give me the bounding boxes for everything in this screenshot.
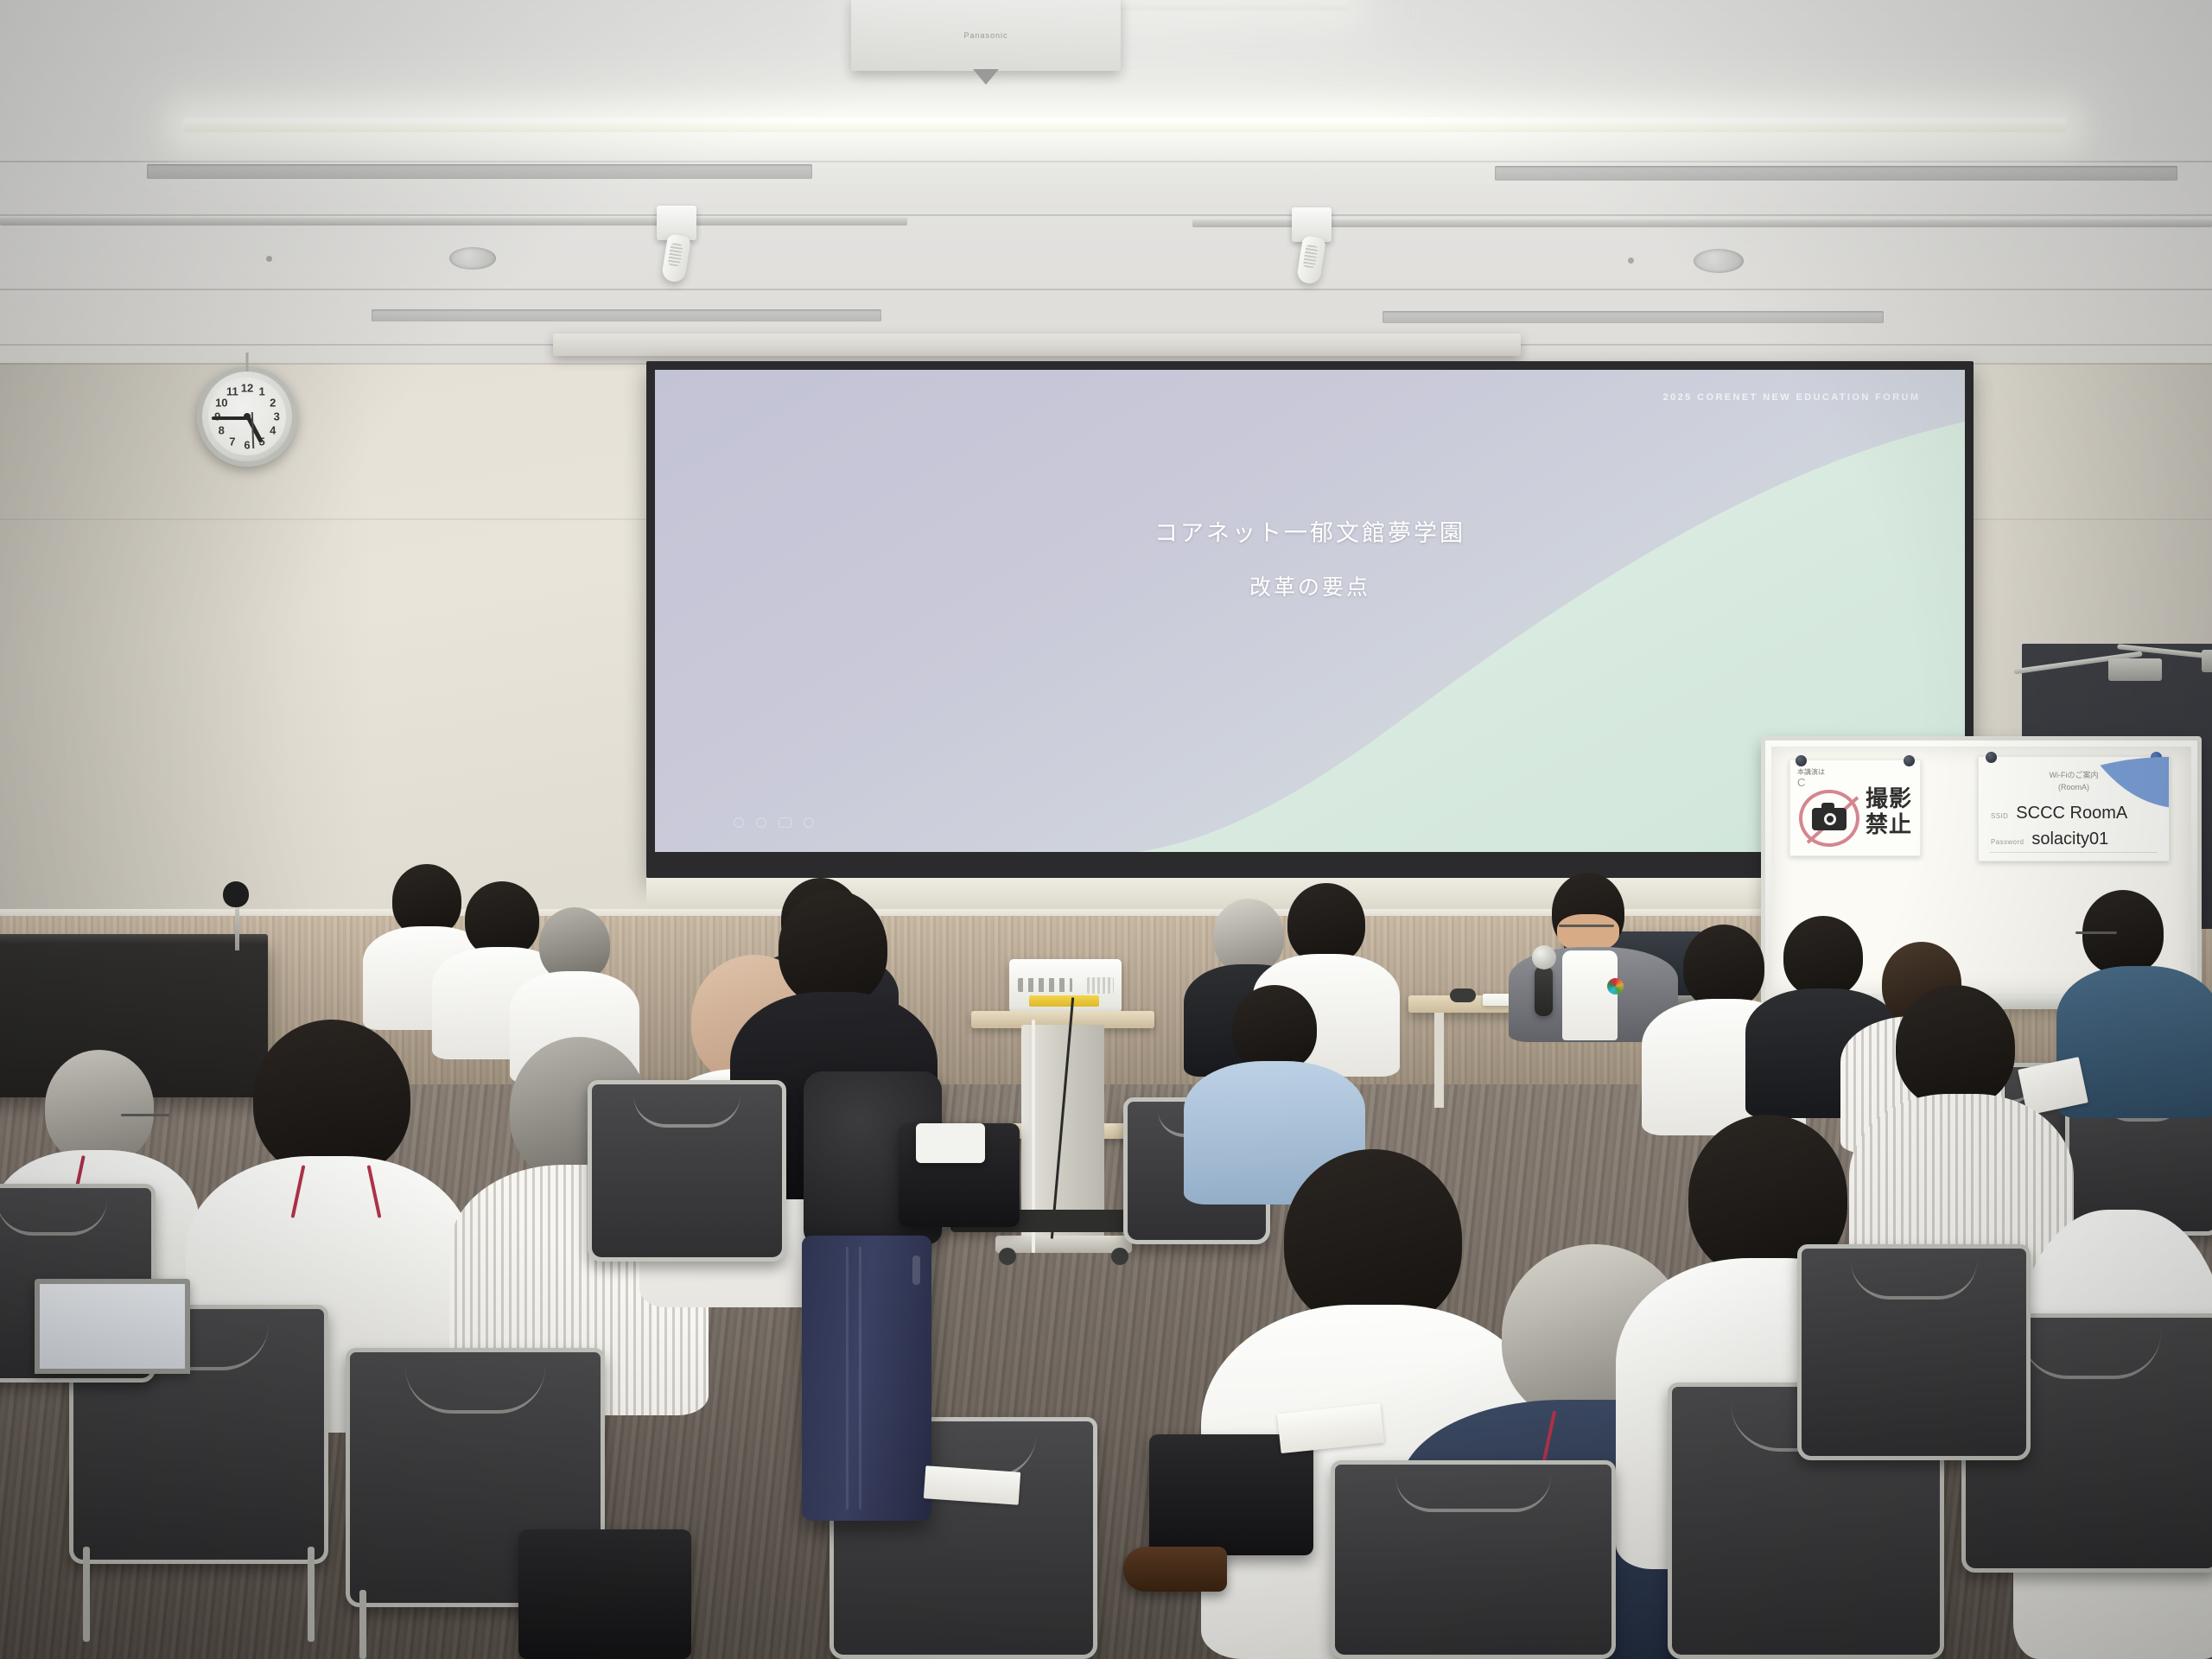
- clock-number: 6: [244, 439, 250, 452]
- attendee-glasses: [121, 1114, 169, 1116]
- slide-title-line1: コアネット一郁文館夢学園: [655, 514, 1965, 548]
- lighting-track-rail: [1192, 219, 2212, 227]
- av-cart-caster: [1111, 1248, 1128, 1265]
- wifi-notice: Wi-Fiのご案内 (RoomA) SSID SCCC RoomA Passwo…: [1978, 756, 2170, 861]
- chair[interactable]: [1331, 1460, 1616, 1659]
- ceiling-air-vent: [147, 164, 812, 179]
- wifi-heading: Wi-Fiのご案内 (RoomA): [1979, 770, 2169, 793]
- ceiling-air-vent: [1495, 166, 2177, 181]
- floor-sign: [924, 1465, 1020, 1505]
- door-closer-box: [2108, 658, 2162, 681]
- suitcase-groove: [859, 1247, 861, 1510]
- ceiling-projector-brand: Panasonic: [851, 31, 1121, 40]
- clock-number: 8: [219, 424, 225, 437]
- chair[interactable]: [588, 1080, 786, 1262]
- projector-vent: [1087, 977, 1114, 994]
- slide-header-text: 2025 CORENET NEW EDUCATION FORUM: [1663, 392, 1921, 403]
- slide-control-icons: [734, 817, 814, 828]
- chair-leg: [83, 1547, 90, 1642]
- microphone-head: [223, 881, 249, 907]
- suitcase-groove: [846, 1247, 849, 1510]
- wifi-heading-line2: (RoomA): [1979, 782, 2169, 794]
- clock-number: 1: [258, 385, 264, 398]
- door-closer-box: [2202, 650, 2212, 672]
- projector-ports: [1018, 978, 1071, 992]
- clock-number: 11: [226, 385, 238, 398]
- no-photography-notice: 本講演は C 撮影 禁止: [1789, 760, 1921, 856]
- attendee-laptop[interactable]: [35, 1279, 190, 1374]
- slide-play-icon: [779, 817, 791, 828]
- spotlight-head: [1296, 235, 1326, 285]
- chair-backrest: [1331, 1460, 1616, 1659]
- clock-number: 3: [274, 410, 280, 423]
- sneaker: [916, 1123, 985, 1163]
- magnet[interactable]: [1796, 755, 1807, 766]
- chair-leg: [308, 1547, 315, 1642]
- suitcase-handle[interactable]: [912, 1255, 920, 1285]
- attendee-head: [1232, 985, 1317, 1071]
- projection-screen-housing: [553, 334, 1521, 356]
- desk-object: [1450, 988, 1476, 1002]
- rolling-suitcase[interactable]: [802, 1236, 931, 1521]
- ceiling-light-strip: [183, 118, 2067, 132]
- camera-icon: [1812, 808, 1847, 830]
- presenter-glasses: [1559, 925, 1614, 927]
- ceiling-projector: Panasonic: [851, 0, 1121, 71]
- door-closer: [2013, 639, 2212, 691]
- magnet[interactable]: [1904, 755, 1915, 766]
- ceiling-air-vent: [1382, 311, 1884, 323]
- wifi-notice-rule: [1990, 852, 2158, 853]
- magnet[interactable]: [1986, 752, 1997, 763]
- chair-leg: [359, 1590, 366, 1659]
- no-photo-line2: 禁止: [1866, 812, 1912, 838]
- clock-number: 7: [229, 435, 235, 448]
- wifi-password-value: solacity01: [2031, 829, 2108, 849]
- av-cart-caster: [999, 1248, 1016, 1265]
- seminar-room-photo: Panasonic 12 1 2 3 4 5 6 7 8 9 10 11: [0, 0, 2212, 1659]
- attendee-head: [45, 1050, 154, 1164]
- wifi-ssid-label: SSID: [1991, 812, 2008, 820]
- no-photo-text: 撮影 禁止: [1866, 786, 1912, 838]
- podium-top: [0, 934, 268, 944]
- attendee-head: [779, 890, 887, 1006]
- portable-projector[interactable]: [1009, 959, 1122, 1013]
- ceiling-sensor: [266, 256, 272, 262]
- attendee-glasses: [2075, 931, 2117, 934]
- wifi-ssid-value: SCCC RoomA: [2016, 804, 2127, 823]
- clock-number: 12: [241, 381, 253, 394]
- projector-label: [1029, 995, 1099, 1007]
- slide-dot-icon: [804, 817, 814, 828]
- slide-dot-icon: [756, 817, 766, 828]
- lighting-track-rail: [0, 218, 907, 226]
- track-spotlight[interactable]: [1292, 207, 1337, 294]
- clock-hook: [246, 353, 249, 372]
- attendee-head: [1287, 883, 1365, 964]
- dress-shoe: [1123, 1547, 1227, 1592]
- chair-backrest: [588, 1080, 786, 1262]
- wall-shadow-left: [0, 363, 372, 985]
- table-leg: [1434, 1013, 1444, 1108]
- clock-center-pin: [244, 413, 251, 420]
- clock-number: 4: [270, 424, 276, 437]
- handheld-microphone[interactable]: [1532, 945, 1556, 969]
- av-cart-base: [995, 1236, 1132, 1253]
- backpack: [518, 1529, 691, 1659]
- ceiling-speaker: [1694, 249, 1744, 273]
- sdg-pin-badge: [1607, 978, 1624, 995]
- attendee-head: [1896, 985, 2015, 1108]
- slide-title-line2: 改革の要点: [655, 570, 1965, 601]
- clock-number: 2: [270, 396, 276, 409]
- track-spotlight[interactable]: [657, 206, 702, 292]
- chair-backrest: [1797, 1244, 2031, 1460]
- attendee-head: [253, 1020, 410, 1177]
- camera-lens-icon: [1824, 813, 1836, 825]
- wall-clock: 12 1 2 3 4 5 6 7 8 9 10 11: [197, 366, 297, 467]
- ceiling-air-vent: [372, 309, 881, 321]
- slide-title-block: コアネット一郁文館夢学園 改革の要点: [655, 514, 1965, 601]
- clock-face: 12 1 2 3 4 5 6 7 8 9 10 11: [208, 378, 286, 455]
- spotlight-head: [661, 233, 691, 283]
- ceiling-sensor: [1628, 257, 1634, 264]
- wifi-ssid-row: SSID SCCC RoomA: [1991, 804, 2127, 823]
- wifi-password-label: Password: [1991, 838, 2024, 846]
- no-photo-line1: 撮影: [1866, 786, 1912, 812]
- slide-dot-icon: [734, 817, 744, 828]
- presenter-dress-shirt: [1562, 950, 1618, 1040]
- wifi-heading-line1: Wi-Fiのご案内: [1979, 770, 2169, 782]
- ceiling-speaker: [449, 247, 496, 270]
- no-camera-icon: [1799, 790, 1859, 847]
- chair[interactable]: [1797, 1244, 2031, 1460]
- presenter-hand: [1535, 966, 1553, 1016]
- no-photo-mark: C: [1797, 776, 1805, 789]
- wifi-password-row: Password solacity01: [1991, 829, 2108, 849]
